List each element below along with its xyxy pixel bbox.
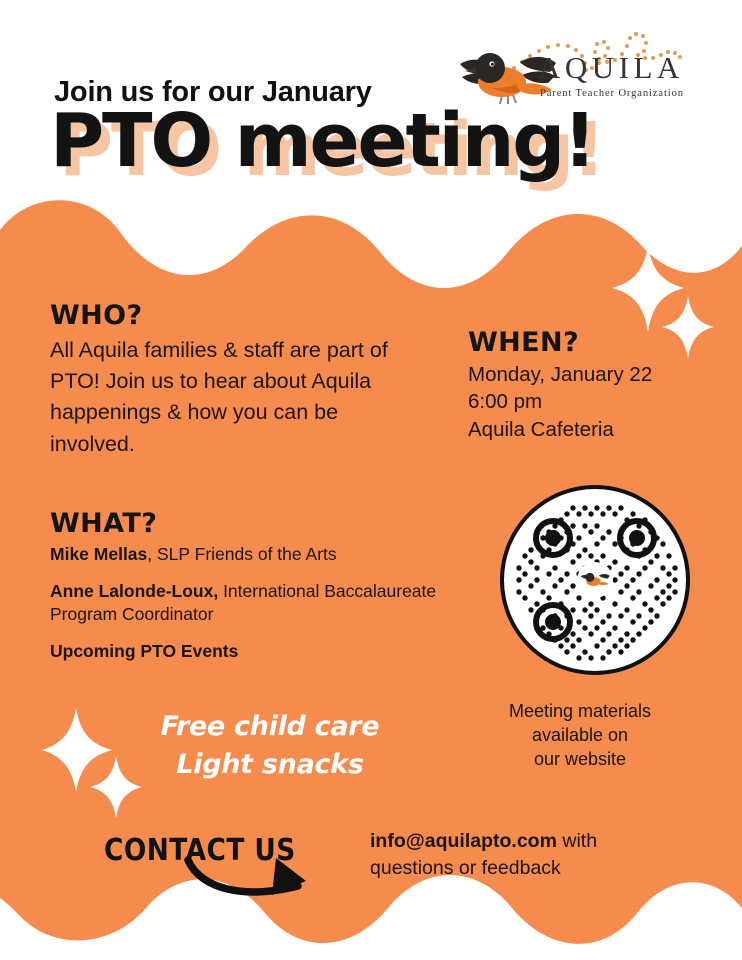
what-item: Mike Mellas, SLP Friends of the Arts	[50, 543, 450, 567]
contact-info: info@aquilapto.com with questions or fee…	[370, 828, 670, 883]
what-item-name: Anne Lalonde-Loux,	[50, 581, 218, 601]
what-item: Upcoming PTO Events	[50, 640, 450, 664]
curved-arrow-right-icon	[180, 848, 370, 908]
contact-email[interactable]: info@aquilapto.com	[370, 830, 557, 852]
perks-block: Free child care Light snacks	[120, 708, 420, 785]
who-section: WHO? All Aquila families & staff are par…	[50, 300, 420, 460]
what-item-name: Mike Mellas	[50, 544, 147, 564]
materials-line-1: Meeting materials	[465, 700, 695, 724]
four-point-sparkle-icon	[612, 246, 684, 332]
qr-code-circular[interactable]	[497, 482, 693, 678]
flyer-header: Join us for our January PTO meeting! PTO…	[0, 0, 742, 205]
sparkle-cluster-top-right	[612, 244, 722, 364]
when-time: 6:00 pm	[468, 388, 730, 415]
what-section: WHAT? Mike Mellas, SLP Friends of the Ar…	[50, 508, 450, 664]
four-point-sparkle-icon	[662, 296, 714, 359]
qr-code[interactable]	[497, 482, 693, 678]
when-date: Monday, January 22	[468, 361, 730, 388]
four-point-sparkle-icon	[42, 708, 112, 792]
perk-line-2: Light snacks	[120, 746, 420, 784]
who-body: All Aquila families & staff are part of …	[50, 335, 420, 460]
headline-block: PTO meeting! PTO meeting!	[50, 104, 595, 178]
what-item: Anne Lalonde-Loux, International Baccala…	[50, 580, 450, 627]
meeting-materials-caption: Meeting materials available on our websi…	[465, 700, 695, 772]
oriole-bird-icon	[577, 562, 613, 598]
who-heading: WHO?	[50, 300, 420, 331]
perk-line-1: Free child care	[120, 708, 420, 746]
materials-line-2: available on	[465, 724, 695, 748]
when-location: Aquila Cafeteria	[468, 416, 730, 443]
logo-subtitle: Parent Teacher Organization	[540, 88, 684, 99]
what-item-name: Upcoming PTO Events	[50, 641, 238, 661]
flyer-canvas: Join us for our January PTO meeting! PTO…	[0, 0, 742, 960]
logo-name: AQUILA	[538, 50, 684, 86]
what-heading: WHAT?	[50, 508, 450, 539]
materials-line-3: our website	[465, 748, 695, 772]
aquila-logo: AQUILA Parent Teacher Organization	[452, 22, 702, 114]
what-item-detail: , SLP Friends of the Arts	[147, 544, 336, 564]
